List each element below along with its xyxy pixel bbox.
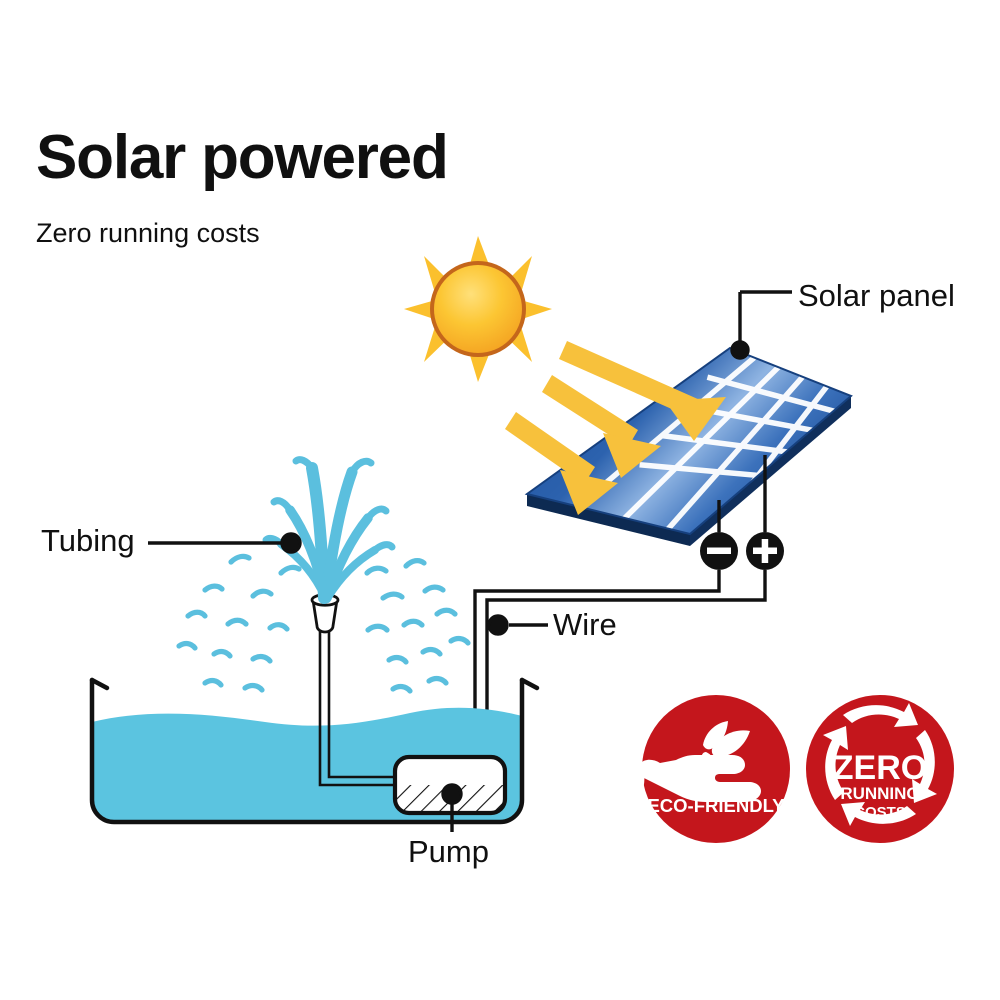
badge-zero-line1: ZERO [833,749,927,787]
badge-zero-line2: RUNNING [840,784,919,803]
fountain-spray [179,460,468,691]
label-pump: Pump [408,834,489,870]
label-solar-panel: Solar panel [798,278,955,314]
page-subtitle: Zero running costs [36,220,260,247]
label-wire: Wire [553,607,617,643]
badge-zero-line3: COSTS [854,804,906,821]
label-tubing: Tubing [41,523,135,559]
infographic-canvas: ECO-FRIENDLY ZERO RUNNING COSTS Solar po… [0,0,1000,1000]
badge-eco-label: ECO-FRIENDLY [647,795,785,816]
badge-zero-running-costs: ZERO RUNNING COSTS [806,695,954,843]
badge-eco-friendly: ECO-FRIENDLY [616,695,790,843]
terminal-negative [700,532,738,570]
terminal-positive [746,532,784,570]
sun-icon [404,236,552,382]
page-title: Solar powered [36,127,448,189]
